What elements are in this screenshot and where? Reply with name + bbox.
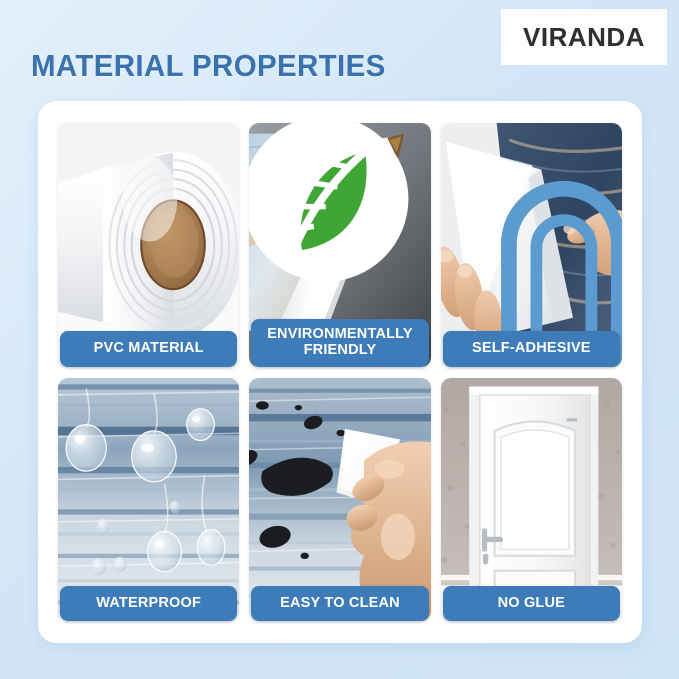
brand-logo: VIRANDA [501, 9, 667, 65]
label-line-1: ENVIRONMENTALLY [267, 326, 413, 342]
feature-label-no-glue: NO GLUE [443, 586, 620, 621]
feature-card-waterproof: WATERPROOF [58, 378, 239, 622]
self-adhesive-peel-photo [441, 123, 622, 367]
label-line-2: FRIENDLY [304, 342, 377, 358]
feature-card-pvc-material: PVC MATERIAL [58, 123, 239, 367]
feature-card-no-glue: NO GLUE [441, 378, 622, 622]
feature-label-waterproof: WATERPROOF [60, 586, 237, 621]
feature-card-easy-to-clean: EASY TO CLEAN [249, 378, 430, 622]
pvc-roll-photo [58, 123, 239, 367]
feature-panel: PVC MATERIAL [38, 101, 642, 643]
feature-card-self-adhesive: SELF-ADHESIVE [441, 123, 622, 367]
feature-label-environmentally-friendly: ENVIRONMENTALLY FRIENDLY [251, 319, 428, 366]
wiping-stains-photo [249, 378, 430, 622]
green-leaf-icon [249, 123, 416, 321]
feature-card-environmentally-friendly: ENVIRONMENTALLY FRIENDLY [249, 123, 430, 367]
water-droplets-photo [58, 378, 239, 622]
white-door-photo [441, 378, 622, 622]
page-title: MATERIAL PROPERTIES [31, 48, 386, 84]
feature-grid: PVC MATERIAL [38, 101, 642, 643]
infographic-canvas: VIRANDA MATERIAL PROPERTIES [0, 0, 679, 679]
feature-label-self-adhesive: SELF-ADHESIVE [443, 331, 620, 366]
feature-label-pvc-material: PVC MATERIAL [60, 331, 237, 366]
feature-label-easy-to-clean: EASY TO CLEAN [251, 586, 428, 621]
brand-name: VIRANDA [523, 22, 645, 53]
